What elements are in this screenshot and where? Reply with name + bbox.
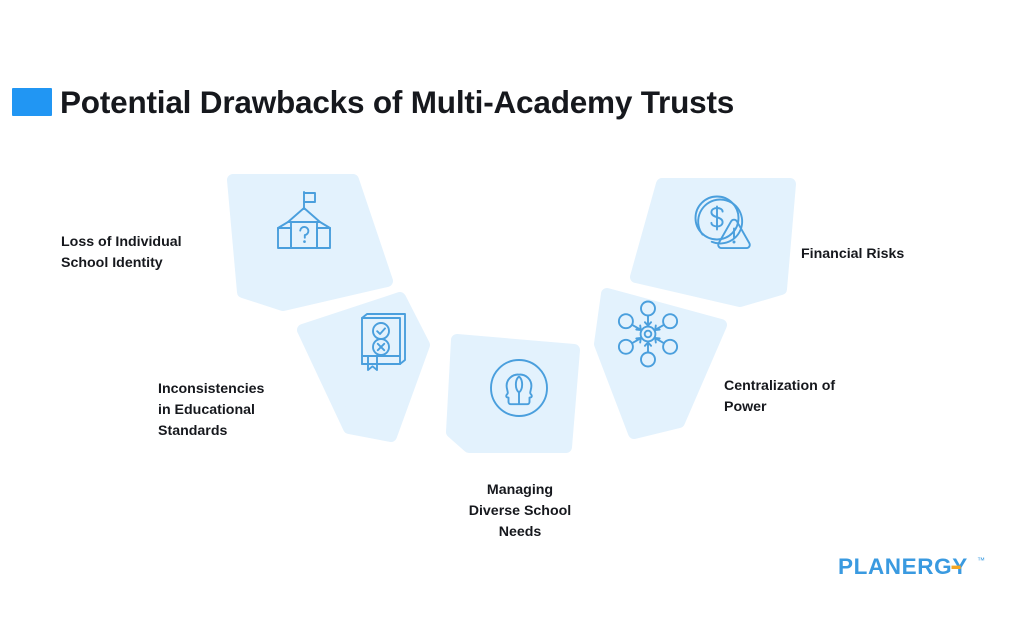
school-question-icon xyxy=(268,184,340,256)
logo-trademark: ™ xyxy=(977,556,985,565)
dollar-coin-warning-icon xyxy=(684,186,756,258)
book-check-cross-icon xyxy=(346,304,418,376)
node-label-centralization-of-power: Centralization of Power xyxy=(724,376,924,418)
network-hub-icon xyxy=(612,298,684,370)
node-label-managing-diverse-school-needs: Managing Diverse School Needs xyxy=(425,480,615,543)
infographic-canvas: Potential Drawbacks of Multi-Academy Tru… xyxy=(0,0,1024,624)
node-label-inconsistencies-in-educational-standards: Inconsistencies in Educational Standards xyxy=(158,379,348,442)
node-label-loss-of-individual-school-identity: Loss of Individual School Identity xyxy=(61,232,261,274)
planergy-logo: PLANERGY ™ xyxy=(838,554,986,580)
two-heads-circle-icon xyxy=(483,352,555,424)
logo-g-accent-bar xyxy=(952,566,961,569)
logo-wordmark: PLANERGY xyxy=(838,554,968,579)
node-label-financial-risks: Financial Risks xyxy=(801,244,991,265)
